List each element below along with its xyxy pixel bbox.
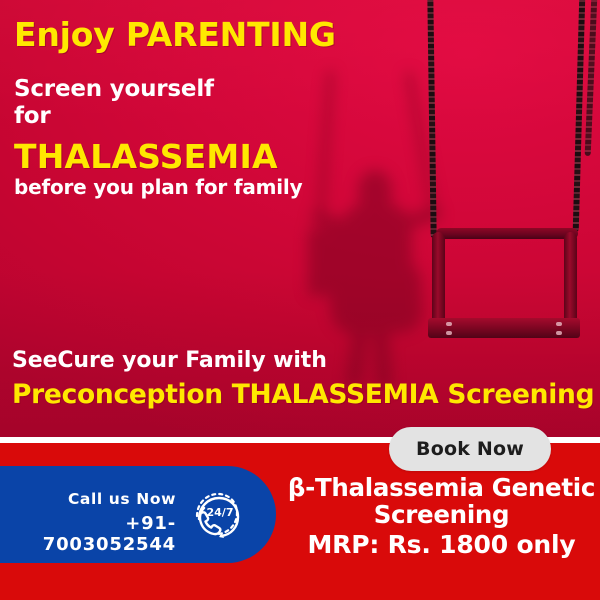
subline-1: Screen yourself bbox=[14, 76, 214, 103]
shadow-rope-left bbox=[317, 70, 334, 220]
subline-3: before you plan for family bbox=[14, 176, 302, 198]
tagline-small: SeeCure your Family with bbox=[12, 348, 327, 373]
screen-yourself-block: Screen yourself for bbox=[14, 76, 214, 130]
product-line-1: β-Thalassemia Genetic bbox=[283, 475, 600, 502]
seat-bolt bbox=[446, 322, 452, 326]
contact-pill[interactable]: Call us Now +91-7003052544 24/7 bbox=[0, 466, 276, 563]
phone-number[interactable]: +91-7003052544 bbox=[8, 513, 176, 555]
phone-247-icon: 24/7 bbox=[185, 486, 243, 544]
disease-name-title: THALASSEMIA bbox=[14, 140, 278, 173]
poster-advertisement: Enjoy PARENTING Screen yourself for THAL… bbox=[0, 0, 600, 600]
poster-headline: Enjoy PARENTING bbox=[14, 18, 336, 53]
subline-2: for bbox=[14, 103, 214, 130]
seat-bolt bbox=[556, 331, 562, 335]
swing-photo-background: Enjoy PARENTING Screen yourself for THAL… bbox=[0, 0, 600, 437]
product-details: β-Thalassemia Genetic Screening MRP: Rs.… bbox=[283, 475, 600, 558]
seat-bolt bbox=[446, 331, 452, 335]
swing-top-bar bbox=[436, 228, 578, 239]
empty-swing-seat bbox=[418, 228, 590, 340]
seat-bolt bbox=[556, 322, 562, 326]
product-line-2: Screening bbox=[283, 502, 600, 529]
call-us-now-label: Call us Now bbox=[36, 490, 176, 508]
badge-247-text: 24/7 bbox=[207, 506, 234, 519]
swing-seat-plate bbox=[428, 318, 580, 338]
book-now-button[interactable]: Book Now bbox=[389, 427, 551, 471]
contact-pill-content: Call us Now +91-7003052544 24/7 bbox=[0, 466, 276, 563]
tagline-big: Preconception THALASSEMIA Screening bbox=[12, 379, 594, 410]
product-price: MRP: Rs. 1800 only bbox=[283, 531, 600, 559]
